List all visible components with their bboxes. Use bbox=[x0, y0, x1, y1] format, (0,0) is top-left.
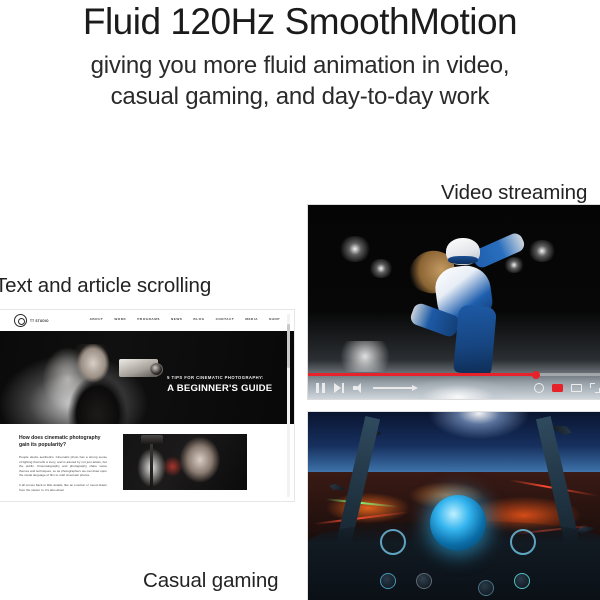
arena-light-icon bbox=[368, 259, 394, 278]
arena-light-icon bbox=[527, 240, 557, 262]
scrollbar-thumb[interactable] bbox=[287, 324, 290, 368]
video-controls-left[interactable] bbox=[316, 383, 415, 393]
video-frame-image bbox=[308, 205, 600, 399]
hero-kicker-text: 5 TIPS FOR CINEMATIC PHOTOGRAPHY: bbox=[167, 375, 264, 380]
gear-icon[interactable] bbox=[534, 383, 544, 393]
promo-page: Fluid 120Hz SmoothMotion giving you more… bbox=[0, 0, 600, 600]
page-title: Fluid 120Hz SmoothMotion bbox=[0, 0, 600, 44]
subtitle-line-2: casual gaming, and day-to-day work bbox=[0, 81, 600, 112]
article-text-column: How does cinematic photography gain its … bbox=[19, 435, 107, 497]
cockpit-dial[interactable] bbox=[514, 573, 530, 589]
nav-item-about[interactable]: ABOUT bbox=[90, 317, 104, 321]
caption-casual-gaming: Casual gaming bbox=[143, 568, 278, 594]
volume-icon[interactable] bbox=[353, 383, 364, 393]
cockpit-dial[interactable] bbox=[416, 573, 432, 589]
cockpit-dial[interactable] bbox=[380, 573, 396, 589]
arena-light-icon bbox=[338, 236, 372, 262]
camera-prop bbox=[119, 359, 158, 378]
theater-mode-icon[interactable] bbox=[571, 384, 582, 392]
casual-gaming-panel[interactable] bbox=[308, 412, 600, 600]
skater-leg-leading bbox=[454, 304, 498, 375]
subtitle-line-1: giving you more fluid animation in video… bbox=[91, 52, 510, 79]
camera-lens-icon bbox=[14, 314, 27, 327]
holographic-targeting-sphere bbox=[430, 495, 486, 551]
article-heading: How does cinematic photography gain its … bbox=[19, 435, 107, 449]
website-nav-links[interactable]: ABOUT WORK PROGRAMS NEWS BLOG CONTACT ME… bbox=[90, 317, 280, 321]
volume-slider[interactable] bbox=[373, 387, 415, 389]
nav-item-blog[interactable]: BLOG bbox=[193, 317, 204, 321]
video-controls-right[interactable] bbox=[534, 383, 600, 393]
hud-ring-left bbox=[380, 529, 406, 555]
nav-item-contact[interactable]: CONTACT bbox=[216, 317, 235, 321]
video-player-panel[interactable] bbox=[308, 205, 600, 399]
caption-video-streaming: Video streaming bbox=[441, 180, 587, 206]
page-subtitle: giving you more fluid animation in video… bbox=[0, 50, 600, 112]
subtitles-icon[interactable] bbox=[552, 384, 563, 392]
hero-title-text: A BEGINNER'S GUIDE bbox=[167, 383, 272, 394]
skater-helmet bbox=[446, 238, 480, 266]
fullscreen-icon[interactable] bbox=[590, 383, 600, 393]
photographer-figure bbox=[43, 344, 152, 424]
article-paragraph-2: It all comes back to little details, lik… bbox=[19, 483, 107, 492]
ice-spray bbox=[332, 341, 398, 372]
website-hero-image: 5 TIPS FOR CINEMATIC PHOTOGRAPHY: A BEGI… bbox=[0, 331, 294, 424]
website-navbar[interactable]: TT STUDIO ABOUT WORK PROGRAMS NEWS BLOG … bbox=[0, 310, 294, 331]
next-icon[interactable] bbox=[334, 383, 344, 393]
video-controls-bar[interactable] bbox=[308, 377, 600, 399]
nav-item-media[interactable]: MEDIA bbox=[245, 317, 258, 321]
article-paragraph-1: People desire aesthetics. Cinematic phot… bbox=[19, 455, 107, 478]
article-inline-photo bbox=[123, 434, 247, 490]
video-progress-fill bbox=[308, 373, 536, 376]
nav-item-shop[interactable]: SHOP bbox=[269, 317, 280, 321]
nav-item-programs[interactable]: PROGRAMS bbox=[137, 317, 160, 321]
site-logo[interactable]: TT STUDIO bbox=[14, 314, 49, 327]
article-body: How does cinematic photography gain its … bbox=[0, 424, 294, 501]
article-scrolling-panel[interactable]: TT STUDIO ABOUT WORK PROGRAMS NEWS BLOG … bbox=[0, 310, 294, 501]
hud-ring-right bbox=[510, 529, 536, 555]
pause-icon[interactable] bbox=[316, 383, 325, 393]
nav-item-news[interactable]: NEWS bbox=[171, 317, 182, 321]
nav-item-work[interactable]: WORK bbox=[114, 317, 126, 321]
tripod-shape bbox=[150, 437, 153, 486]
caption-text-scrolling: Text and article scrolling bbox=[0, 273, 211, 299]
site-logo-text: TT STUDIO bbox=[30, 319, 49, 323]
speed-skater-figure bbox=[401, 228, 527, 383]
